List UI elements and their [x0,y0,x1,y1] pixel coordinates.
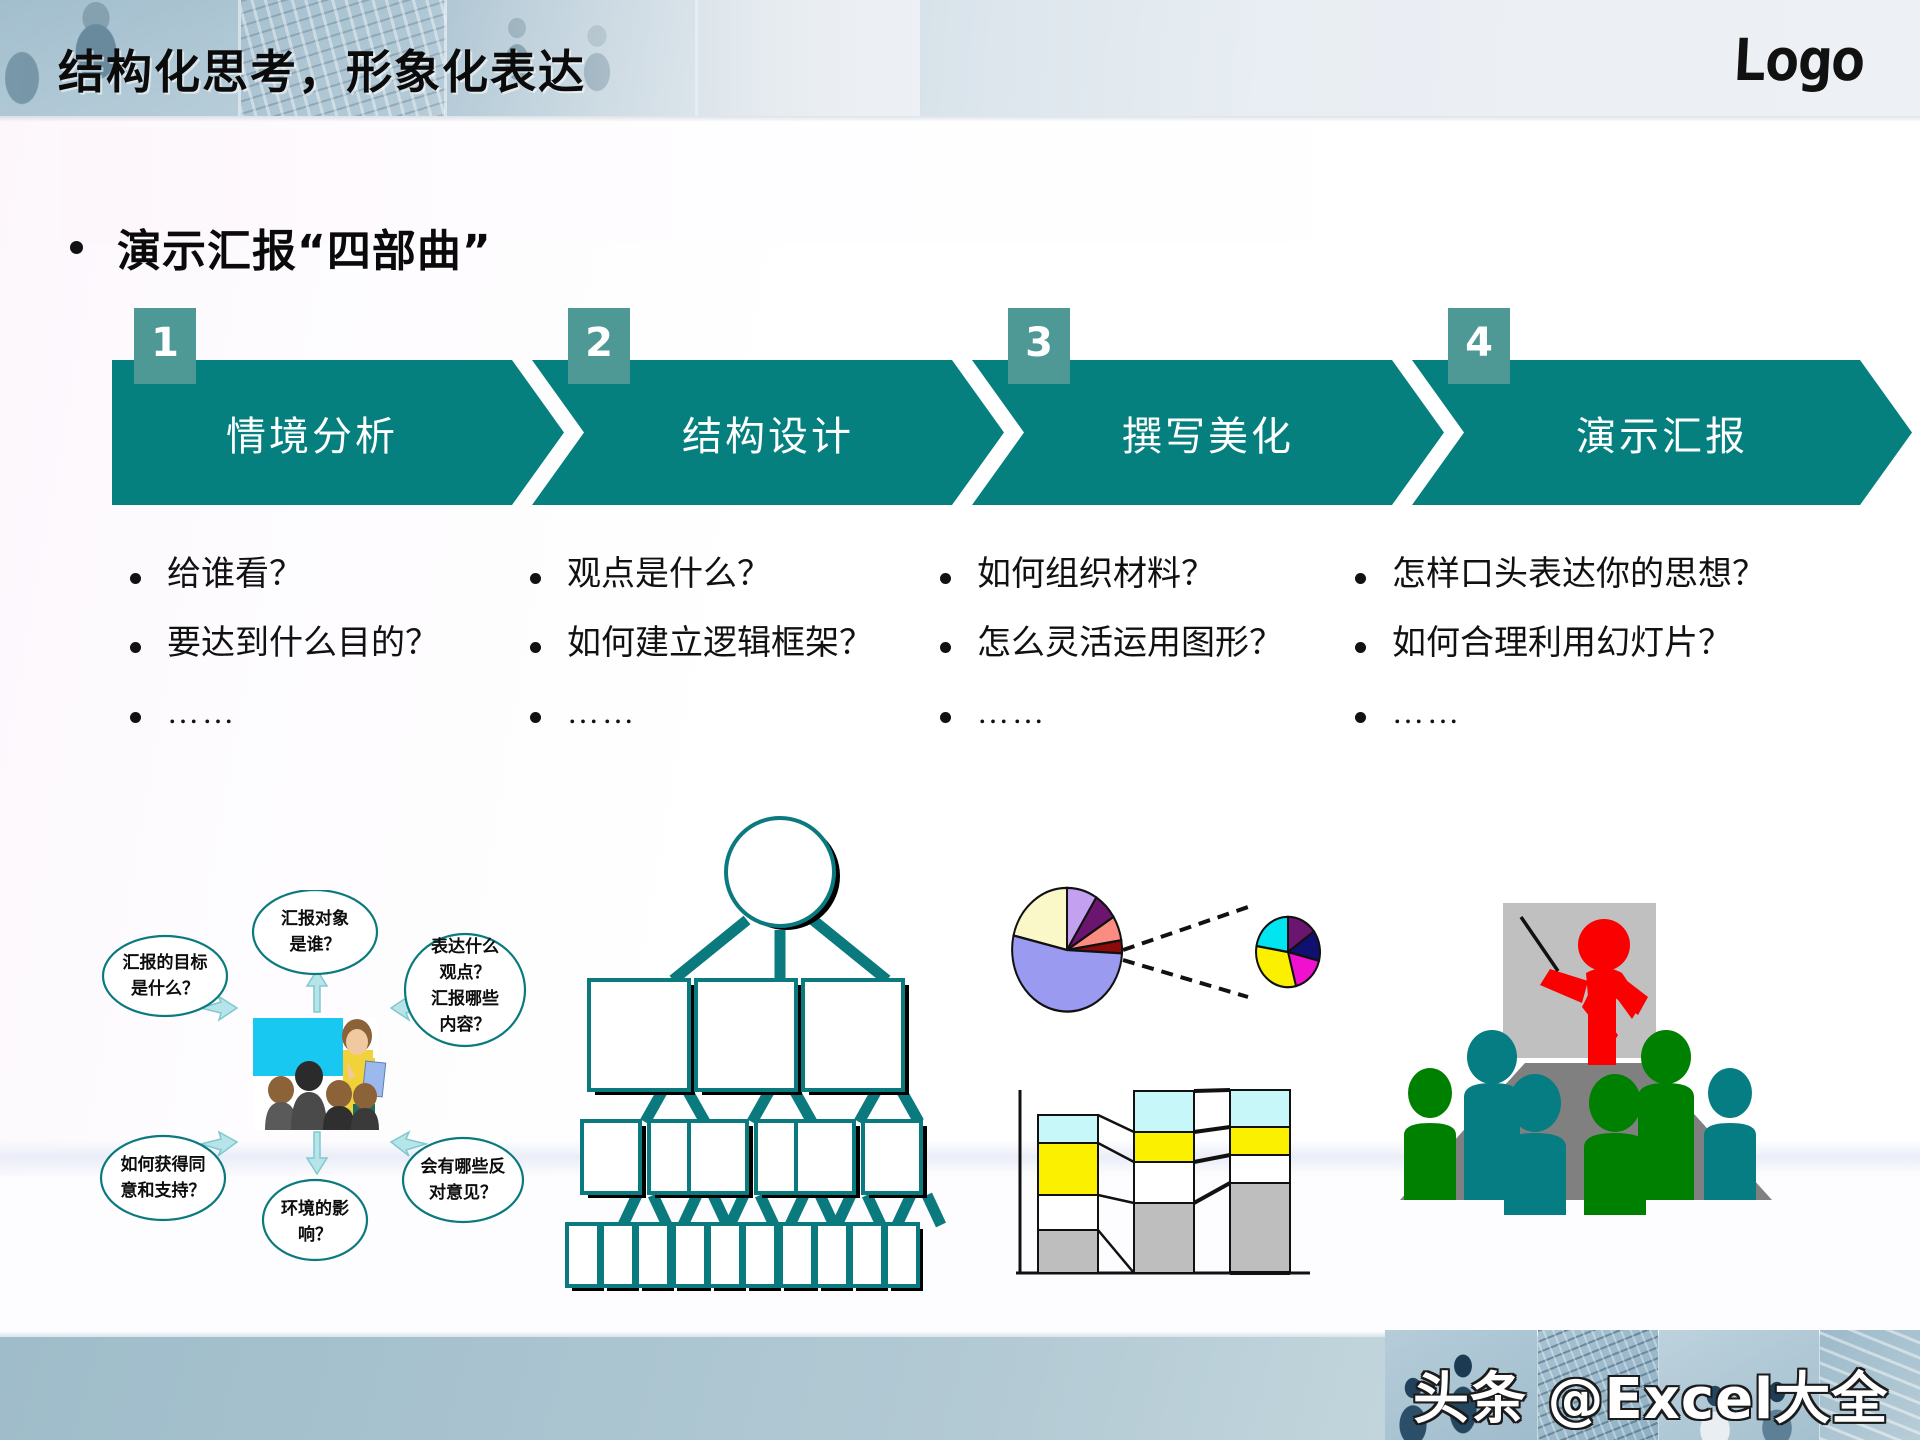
stacked-bar-chart [1016,1090,1310,1273]
process-step-2-label: 结构设计 [584,360,952,505]
mindmap-center-image [253,1018,386,1130]
tree-node-l3 [796,1121,854,1193]
bullet-dot-icon [130,642,141,653]
detail-columns: 给谁看？ 要达到什么目的？ …… 观点是什么？ 如何建立逻辑框架？ [100,555,1860,775]
mindmap-node-top-line1: 汇报对象 [281,908,349,929]
stacked-bar [1230,1090,1290,1273]
main-bullet: 演示汇报“四部曲” [70,215,492,279]
list-item: …… [530,694,873,731]
mindmap-node-topright-line3: 汇报哪些 [431,988,499,1009]
list-item-label: 如何组织材料？ [977,555,1215,594]
page-title: 结构化思考，形象化表达 [58,36,586,102]
mindmap-node-bottomright-line2: 对意见？ [429,1182,497,1203]
stacked-bar [1134,1091,1194,1273]
watermark-label: 头条 @Excel大全 [1413,1354,1888,1435]
process-step-2-badge: 2 [568,308,630,384]
process-chevrons: 情境分析 1 结构设计 2 撰写美化 3 演示汇报 4 [112,360,1832,505]
list-item: 怎样口头表达你的思想？ [1355,555,1766,594]
main-bullet-label: 演示汇报“四部曲” [117,215,492,279]
list-item: …… [130,694,439,731]
tree-node-l4 [816,1224,848,1286]
list-item-label: 怎么灵活运用图形？ [977,624,1283,663]
process-step-3-number: 3 [1025,320,1053,366]
list-item: 给谁看？ [130,555,439,594]
process-step-3-badge: 3 [1008,308,1070,384]
mindmap-illustration: 汇报对象 是谁？ 汇报的目标 是什么？ 表达什么 观点？ 汇报哪些 内容？ 如何… [85,890,545,1310]
tree-node-l2 [696,980,796,1090]
bullet-dot-icon [530,642,541,653]
tree-node-l4 [602,1224,634,1286]
list-item: …… [940,694,1283,731]
stacked-bar [1038,1115,1098,1273]
list-item: 如何组织材料？ [940,555,1283,594]
list-item: 如何建立逻辑框架？ [530,624,873,663]
bullet-dot-icon [1355,573,1366,584]
tree-node-l4 [637,1224,669,1286]
tree-node-l4 [709,1224,741,1286]
detail-column-1: 给谁看？ 要达到什么目的？ …… [130,555,439,761]
bullet-dot-icon [940,573,951,584]
tree-node-l3 [863,1121,921,1193]
pie-chart-main [1012,888,1122,1012]
tree-node-l3 [582,1121,640,1193]
list-item-label: 观点是什么？ [567,555,771,594]
tree-node-l4 [886,1224,918,1286]
list-item: …… [1355,694,1766,731]
process-step-1-number: 1 [151,320,179,366]
pie-chart-detail [1256,917,1320,987]
presenter-illustration [1390,885,1780,1215]
list-item-label: …… [1392,694,1462,731]
mindmap-svg: 汇报对象 是谁？ 汇报的目标 是什么？ 表达什么 观点？ 汇报哪些 内容？ 如何… [85,890,545,1310]
tree-root-node [726,818,834,926]
presenter-svg [1390,885,1780,1215]
bullet-dot-icon [530,573,541,584]
tree-node-l4 [744,1224,776,1286]
header-shadow [0,116,1920,122]
process-step-4-label: 演示汇报 [1464,360,1860,505]
tree-node-l2 [803,980,903,1090]
slide-header: 结构化思考，形象化表达 Logo [0,0,1920,116]
charts-illustration [1010,855,1350,1315]
detail-column-3: 如何组织材料？ 怎么灵活运用图形？ …… [940,555,1283,761]
mindmap-node-topright-line2: 观点？ [439,962,491,983]
process-step-4-number: 4 [1465,320,1493,366]
list-item-label: 如何建立逻辑框架？ [567,624,873,663]
process-step-1-badge: 1 [134,308,196,384]
bullet-dot-icon [1355,712,1366,723]
tree-node-l4 [851,1224,883,1286]
tree-node-l3 [689,1121,747,1193]
tree-illustration [555,810,1005,1310]
mindmap-node-bottomleft-line1: 如何获得同 [121,1154,206,1175]
list-item-label: 给谁看？ [167,555,303,594]
list-item-label: …… [977,694,1047,731]
list-item-label: 要达到什么目的？ [167,624,439,663]
list-item-label: 如何合理利用幻灯片？ [1392,624,1732,663]
list-item: 观点是什么？ [530,555,873,594]
slide-canvas: 结构化思考，形象化表达 Logo 演示汇报“四部曲” 情境分析 1 结构设计 2… [0,0,1920,1440]
pie-detail-slice [1257,917,1289,952]
pie-callout-lines [1123,907,1248,997]
list-item-label: …… [167,694,237,731]
process-step-4-badge: 4 [1448,308,1510,384]
mindmap-node-bottom-line2: 响？ [298,1224,332,1245]
list-item-label: …… [567,694,637,731]
bullet-dot-icon [940,712,951,723]
tree-node-l4 [567,1224,599,1286]
list-item: 怎么灵活运用图形？ [940,624,1283,663]
tree-node-l4 [674,1224,706,1286]
bar-connector-lines [1098,1115,1134,1273]
bullet-dot-icon [530,712,541,723]
process-step-2-number: 2 [585,320,613,366]
watermark: 头条 @Excel大全 [1385,1330,1920,1440]
bullet-dot-icon [1355,642,1366,653]
logo: Logo [1731,26,1866,94]
detail-column-4: 怎样口头表达你的思想？ 如何合理利用幻灯片？ …… [1355,555,1766,761]
mindmap-node-bottom-line1: 环境的影 [281,1198,349,1219]
bullet-dot-icon [130,573,141,584]
list-item: 要达到什么目的？ [130,624,439,663]
list-item: 如何合理利用幻灯片？ [1355,624,1766,663]
mindmap-node-topleft-line1: 汇报的目标 [123,952,208,973]
tree-node-l4 [781,1224,813,1286]
mindmap-node-top-line2: 是谁？ [290,934,341,955]
mindmap-node-topleft-line2: 是什么？ [131,978,199,999]
bullet-dot-icon [70,241,83,254]
bullet-dot-icon [130,712,141,723]
mindmap-node-topright-line1: 表达什么 [431,936,499,957]
tree-svg [555,810,1005,1310]
bullet-dot-icon [940,642,951,653]
tree-nodes [567,818,921,1286]
tree-node-l2 [589,980,689,1090]
mindmap-node-bottomleft-line2: 意和支持？ [121,1180,206,1201]
mindmap-node-bottomright-line1: 会有哪些反 [421,1156,506,1177]
mindmap-node-topright-line4: 内容？ [440,1014,491,1035]
list-item-label: 怎样口头表达你的思想？ [1392,555,1766,594]
detail-column-2: 观点是什么？ 如何建立逻辑框架？ …… [530,555,873,761]
charts-svg [1010,855,1350,1315]
process-step-3-label: 撰写美化 [1024,360,1392,505]
